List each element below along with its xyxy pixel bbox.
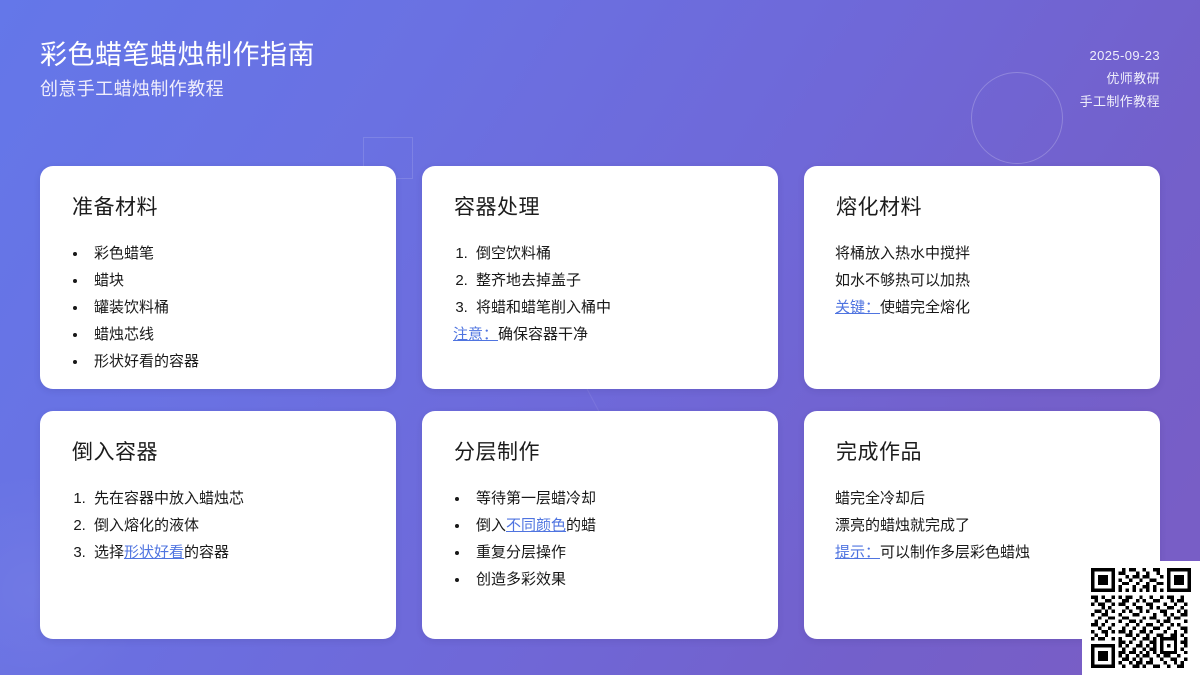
card-pour-into-container[interactable]: 倒入容器 先在容器中放入蜡烛芯 倒入熔化的液体 选择形状好看的容器 xyxy=(40,411,396,639)
page-subtitle: 创意手工蜡烛制作教程 xyxy=(40,75,315,103)
item-text-after: 的蜡 xyxy=(566,517,596,534)
paragraph: 蜡完全冷却后 xyxy=(835,485,1132,512)
note-text: 使蜡完全熔化 xyxy=(880,299,970,316)
list-item: 整齐地去掉盖子 xyxy=(472,267,750,294)
header-left: 彩色蜡笔蜡烛制作指南 创意手工蜡烛制作教程 xyxy=(40,38,315,103)
numbered-list: 倒空饮料桶 整齐地去掉盖子 将蜡和蜡笔削入桶中 xyxy=(472,240,750,321)
list-item: 将蜡和蜡笔削入桶中 xyxy=(472,294,750,321)
item-text-before: 选择 xyxy=(94,544,124,561)
list-item: 形状好看的容器 xyxy=(88,348,368,375)
card-title: 完成作品 xyxy=(836,439,1132,467)
card-title: 熔化材料 xyxy=(836,194,1132,222)
list-item-with-link: 选择形状好看的容器 xyxy=(90,539,368,566)
card-body: 彩色蜡笔 蜡块 罐装饮料桶 蜡烛芯线 形状好看的容器 xyxy=(68,240,368,375)
list-item: 倒空饮料桶 xyxy=(472,240,750,267)
meta-category: 手工制作教程 xyxy=(1080,90,1160,113)
bullet-list: 彩色蜡笔 蜡块 罐装饮料桶 蜡烛芯线 形状好看的容器 xyxy=(88,240,368,375)
card-title: 倒入容器 xyxy=(72,439,368,467)
meta-org: 优师教研 xyxy=(1080,67,1160,90)
bullet-list: 等待第一层蜡冷却 倒入不同颜色的蜡 重复分层操作 创造多彩效果 xyxy=(470,485,750,593)
list-item: 彩色蜡笔 xyxy=(88,240,368,267)
paragraph: 将桶放入热水中搅拌 xyxy=(835,240,1132,267)
note-label-link[interactable]: 注意： xyxy=(453,326,498,343)
card-body: 先在容器中放入蜡烛芯 倒入熔化的液体 选择形状好看的容器 xyxy=(68,485,368,566)
list-item: 罐装饮料桶 xyxy=(88,294,368,321)
list-item: 创造多彩效果 xyxy=(470,566,750,593)
header-meta: 2025-09-23 优师教研 手工制作教程 xyxy=(1080,38,1160,113)
list-item: 倒入熔化的液体 xyxy=(90,512,368,539)
card-note: 注意：确保容器干净 xyxy=(453,321,750,348)
card-melt-materials[interactable]: 熔化材料 将桶放入热水中搅拌 如水不够热可以加热 关键：使蜡完全熔化 xyxy=(804,166,1160,389)
meta-date: 2025-09-23 xyxy=(1080,44,1160,67)
item-text-after: 的容器 xyxy=(184,544,229,561)
paragraph: 漂亮的蜡烛就完成了 xyxy=(835,512,1132,539)
paragraph: 如水不够热可以加热 xyxy=(835,267,1132,294)
card-body: 倒空饮料桶 整齐地去掉盖子 将蜡和蜡笔削入桶中 注意：确保容器干净 xyxy=(450,240,750,348)
item-text-before: 倒入 xyxy=(476,517,506,534)
note-text: 可以制作多层彩色蜡烛 xyxy=(880,544,1030,561)
card-body: 将桶放入热水中搅拌 如水不够热可以加热 关键：使蜡完全熔化 xyxy=(832,240,1132,321)
slide-header: 彩色蜡笔蜡烛制作指南 创意手工蜡烛制作教程 2025-09-23 优师教研 手工… xyxy=(0,0,1200,150)
inline-link[interactable]: 不同颜色 xyxy=(506,517,566,534)
list-item: 重复分层操作 xyxy=(470,539,750,566)
list-item: 先在容器中放入蜡烛芯 xyxy=(90,485,368,512)
card-layering[interactable]: 分层制作 等待第一层蜡冷却 倒入不同颜色的蜡 重复分层操作 创造多彩效果 xyxy=(422,411,778,639)
list-item: 等待第一层蜡冷却 xyxy=(470,485,750,512)
qr-code-container[interactable] xyxy=(1082,561,1200,675)
card-body: 蜡完全冷却后 漂亮的蜡烛就完成了 提示：可以制作多层彩色蜡烛 xyxy=(832,485,1132,566)
inline-link[interactable]: 形状好看 xyxy=(124,544,184,561)
card-title: 准备材料 xyxy=(72,194,368,222)
list-item: 蜡块 xyxy=(88,267,368,294)
note-label-link[interactable]: 提示： xyxy=(835,544,880,561)
card-grid: 准备材料 彩色蜡笔 蜡块 罐装饮料桶 蜡烛芯线 形状好看的容器 容器处理 倒空饮… xyxy=(40,166,1160,639)
qr-code-icon xyxy=(1089,568,1193,668)
list-item-with-link: 倒入不同颜色的蜡 xyxy=(470,512,750,539)
numbered-list: 先在容器中放入蜡烛芯 倒入熔化的液体 选择形状好看的容器 xyxy=(90,485,368,566)
card-container-prep[interactable]: 容器处理 倒空饮料桶 整齐地去掉盖子 将蜡和蜡笔削入桶中 注意：确保容器干净 xyxy=(422,166,778,389)
card-body: 等待第一层蜡冷却 倒入不同颜色的蜡 重复分层操作 创造多彩效果 xyxy=(450,485,750,593)
card-title: 容器处理 xyxy=(454,194,750,222)
slide-root: 彩色蜡笔蜡烛制作指南 创意手工蜡烛制作教程 2025-09-23 优师教研 手工… xyxy=(0,0,1200,675)
card-prepare-materials[interactable]: 准备材料 彩色蜡笔 蜡块 罐装饮料桶 蜡烛芯线 形状好看的容器 xyxy=(40,166,396,389)
note-label-link[interactable]: 关键： xyxy=(835,299,880,316)
card-note: 关键：使蜡完全熔化 xyxy=(835,294,1132,321)
page-title: 彩色蜡笔蜡烛制作指南 xyxy=(40,38,315,72)
card-title: 分层制作 xyxy=(454,439,750,467)
list-item: 蜡烛芯线 xyxy=(88,321,368,348)
note-text: 确保容器干净 xyxy=(498,326,588,343)
